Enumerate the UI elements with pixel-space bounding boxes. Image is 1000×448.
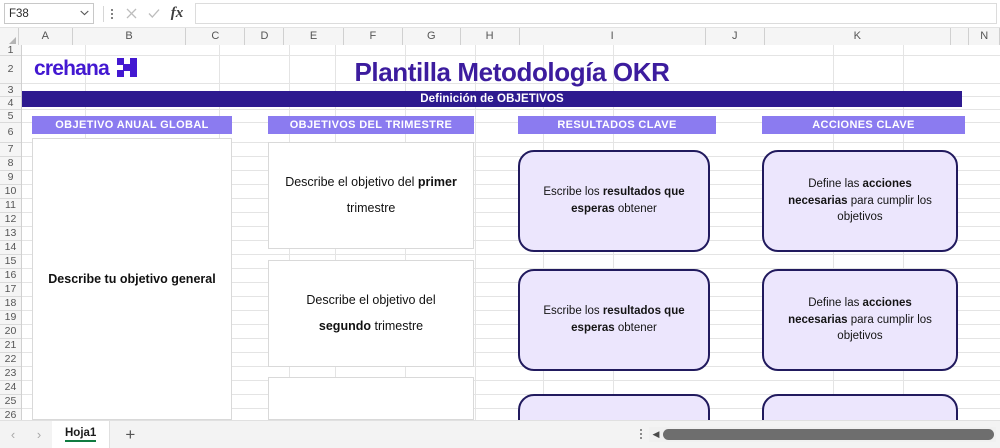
quarter-objective-text-2: Describe el objetivo del segundo trimest… bbox=[279, 288, 463, 339]
cancel-icon[interactable] bbox=[121, 4, 141, 24]
column-header-K[interactable]: K bbox=[765, 28, 951, 45]
quarter-objective-cell-1[interactable]: Describe el objetivo del primer trimestr… bbox=[268, 142, 474, 249]
row-header-5[interactable]: 5 bbox=[0, 110, 21, 123]
key-action-box-3[interactable] bbox=[762, 394, 958, 420]
crehana-h-mark-icon bbox=[117, 58, 139, 80]
column-header-B[interactable]: B bbox=[73, 28, 186, 45]
row-header-25[interactable]: 25 bbox=[0, 395, 21, 409]
key-result-box-3[interactable] bbox=[518, 394, 710, 420]
scroll-left-icon[interactable]: ◀ bbox=[649, 429, 663, 440]
formula-input[interactable] bbox=[195, 3, 997, 24]
brand-name: crehana bbox=[34, 57, 109, 81]
key-result-box-2[interactable]: Escribe los resultados que esperas obten… bbox=[518, 269, 710, 371]
row-header-7[interactable]: 7 bbox=[0, 143, 21, 157]
insert-function-icon[interactable]: fx bbox=[167, 4, 187, 24]
sheet-tab-label: Hoja1 bbox=[65, 427, 96, 442]
row-header-18[interactable]: 18 bbox=[0, 297, 21, 311]
row-header-10[interactable]: 10 bbox=[0, 185, 21, 199]
grid-area[interactable]: crehana Plantilla Metodología OKR Defini… bbox=[22, 45, 1000, 420]
row-header-21[interactable]: 21 bbox=[0, 339, 21, 353]
quarter-objective-cell-3[interactable] bbox=[268, 377, 474, 420]
column-header-I[interactable]: I bbox=[520, 28, 706, 45]
sheet-content: crehana Plantilla Metodología OKR Defini… bbox=[22, 45, 1000, 420]
key-result-text-1: Escribe los resultados que esperas obten… bbox=[534, 184, 694, 217]
name-box-value: F38 bbox=[9, 8, 29, 20]
add-sheet-button[interactable]: + bbox=[110, 421, 150, 448]
row-header-13[interactable]: 13 bbox=[0, 227, 21, 241]
select-all-corner[interactable] bbox=[0, 28, 19, 45]
column-header-hidden-11[interactable] bbox=[951, 28, 970, 45]
chevron-down-icon[interactable] bbox=[80, 9, 89, 18]
next-sheet-icon[interactable]: › bbox=[26, 422, 52, 448]
key-result-text-2: Escribe los resultados que esperas obten… bbox=[534, 303, 694, 336]
section-header-objetivo-anual-global: OBJETIVO ANUAL GLOBAL bbox=[32, 116, 232, 134]
row-header-3[interactable]: 3 bbox=[0, 84, 21, 97]
more-options-icon[interactable] bbox=[111, 9, 113, 19]
column-header-J[interactable]: J bbox=[706, 28, 765, 45]
column-header-C[interactable]: C bbox=[186, 28, 245, 45]
split-grip-icon[interactable] bbox=[640, 429, 642, 439]
row-header-22[interactable]: 22 bbox=[0, 353, 21, 367]
quarter-objective-text-1: Describe el objetivo del primer trimestr… bbox=[279, 170, 463, 221]
annual-goal-text: Describe tu objetivo general bbox=[48, 272, 215, 286]
row-header-23[interactable]: 23 bbox=[0, 367, 21, 381]
spreadsheet-app: F38 fx ABCDEFGHIJKN 12345678910111213141… bbox=[0, 0, 1000, 448]
key-action-text-2: Define las acciones necesarias para cump… bbox=[778, 295, 942, 345]
key-action-box-1[interactable]: Define las acciones necesarias para cump… bbox=[762, 150, 958, 252]
annual-goal-cell[interactable]: Describe tu objetivo general bbox=[32, 138, 232, 420]
row-header-12[interactable]: 12 bbox=[0, 213, 21, 227]
divider bbox=[103, 6, 104, 22]
column-header-F[interactable]: F bbox=[344, 28, 403, 45]
column-header-E[interactable]: E bbox=[284, 28, 343, 45]
key-action-text-1: Define las acciones necesarias para cump… bbox=[778, 176, 942, 226]
previous-sheet-icon[interactable]: ‹ bbox=[0, 422, 26, 448]
row-header-11[interactable]: 11 bbox=[0, 199, 21, 213]
key-action-box-2[interactable]: Define las acciones necesarias para cump… bbox=[762, 269, 958, 371]
key-result-box-1[interactable]: Escribe los resultados que esperas obten… bbox=[518, 150, 710, 252]
crehana-logo: crehana bbox=[34, 57, 139, 81]
formula-bar: F38 fx bbox=[0, 0, 1000, 28]
row-header-14[interactable]: 14 bbox=[0, 241, 21, 255]
column-header-N[interactable]: N bbox=[969, 28, 1000, 45]
row-header-column: 1234567891011121314151617181920212223242… bbox=[0, 45, 22, 420]
quarter-objective-cell-2[interactable]: Describe el objetivo del segundo trimest… bbox=[268, 260, 474, 367]
column-header-H[interactable]: H bbox=[461, 28, 520, 45]
confirm-icon[interactable] bbox=[144, 4, 164, 24]
sheet-tab-hoja1[interactable]: Hoja1 bbox=[52, 421, 110, 448]
column-header-G[interactable]: G bbox=[403, 28, 461, 45]
row-header-1[interactable]: 1 bbox=[0, 45, 21, 56]
name-box[interactable]: F38 bbox=[4, 3, 94, 24]
row-header-24[interactable]: 24 bbox=[0, 381, 21, 395]
row-header-15[interactable]: 15 bbox=[0, 255, 21, 269]
page-title: Plantilla Metodología OKR bbox=[262, 57, 762, 88]
row-header-17[interactable]: 17 bbox=[0, 283, 21, 297]
horizontal-scroll-area: ◀ bbox=[640, 420, 1000, 448]
column-header-D[interactable]: D bbox=[245, 28, 284, 45]
objectives-band: Definición de OBJETIVOS bbox=[22, 91, 962, 107]
row-header-9[interactable]: 9 bbox=[0, 171, 21, 185]
section-header-objetivos-del-trimestre: OBJETIVOS DEL TRIMESTRE bbox=[268, 116, 474, 134]
row-header-8[interactable]: 8 bbox=[0, 157, 21, 171]
row-header-16[interactable]: 16 bbox=[0, 269, 21, 283]
row-header-6[interactable]: 6 bbox=[0, 123, 21, 143]
column-header-row: ABCDEFGHIJKN bbox=[0, 28, 1000, 45]
row-header-20[interactable]: 20 bbox=[0, 325, 21, 339]
row-header-19[interactable]: 19 bbox=[0, 311, 21, 325]
section-header-resultados-clave: RESULTADOS CLAVE bbox=[518, 116, 716, 134]
row-header-2[interactable]: 2 bbox=[0, 56, 21, 84]
horizontal-scrollbar[interactable]: ◀ bbox=[649, 427, 996, 442]
horizontal-scroll-thumb[interactable] bbox=[663, 429, 994, 440]
section-header-acciones-clave: ACCIONES CLAVE bbox=[762, 116, 965, 134]
column-header-A[interactable]: A bbox=[19, 28, 73, 45]
row-header-4[interactable]: 4 bbox=[0, 97, 21, 110]
